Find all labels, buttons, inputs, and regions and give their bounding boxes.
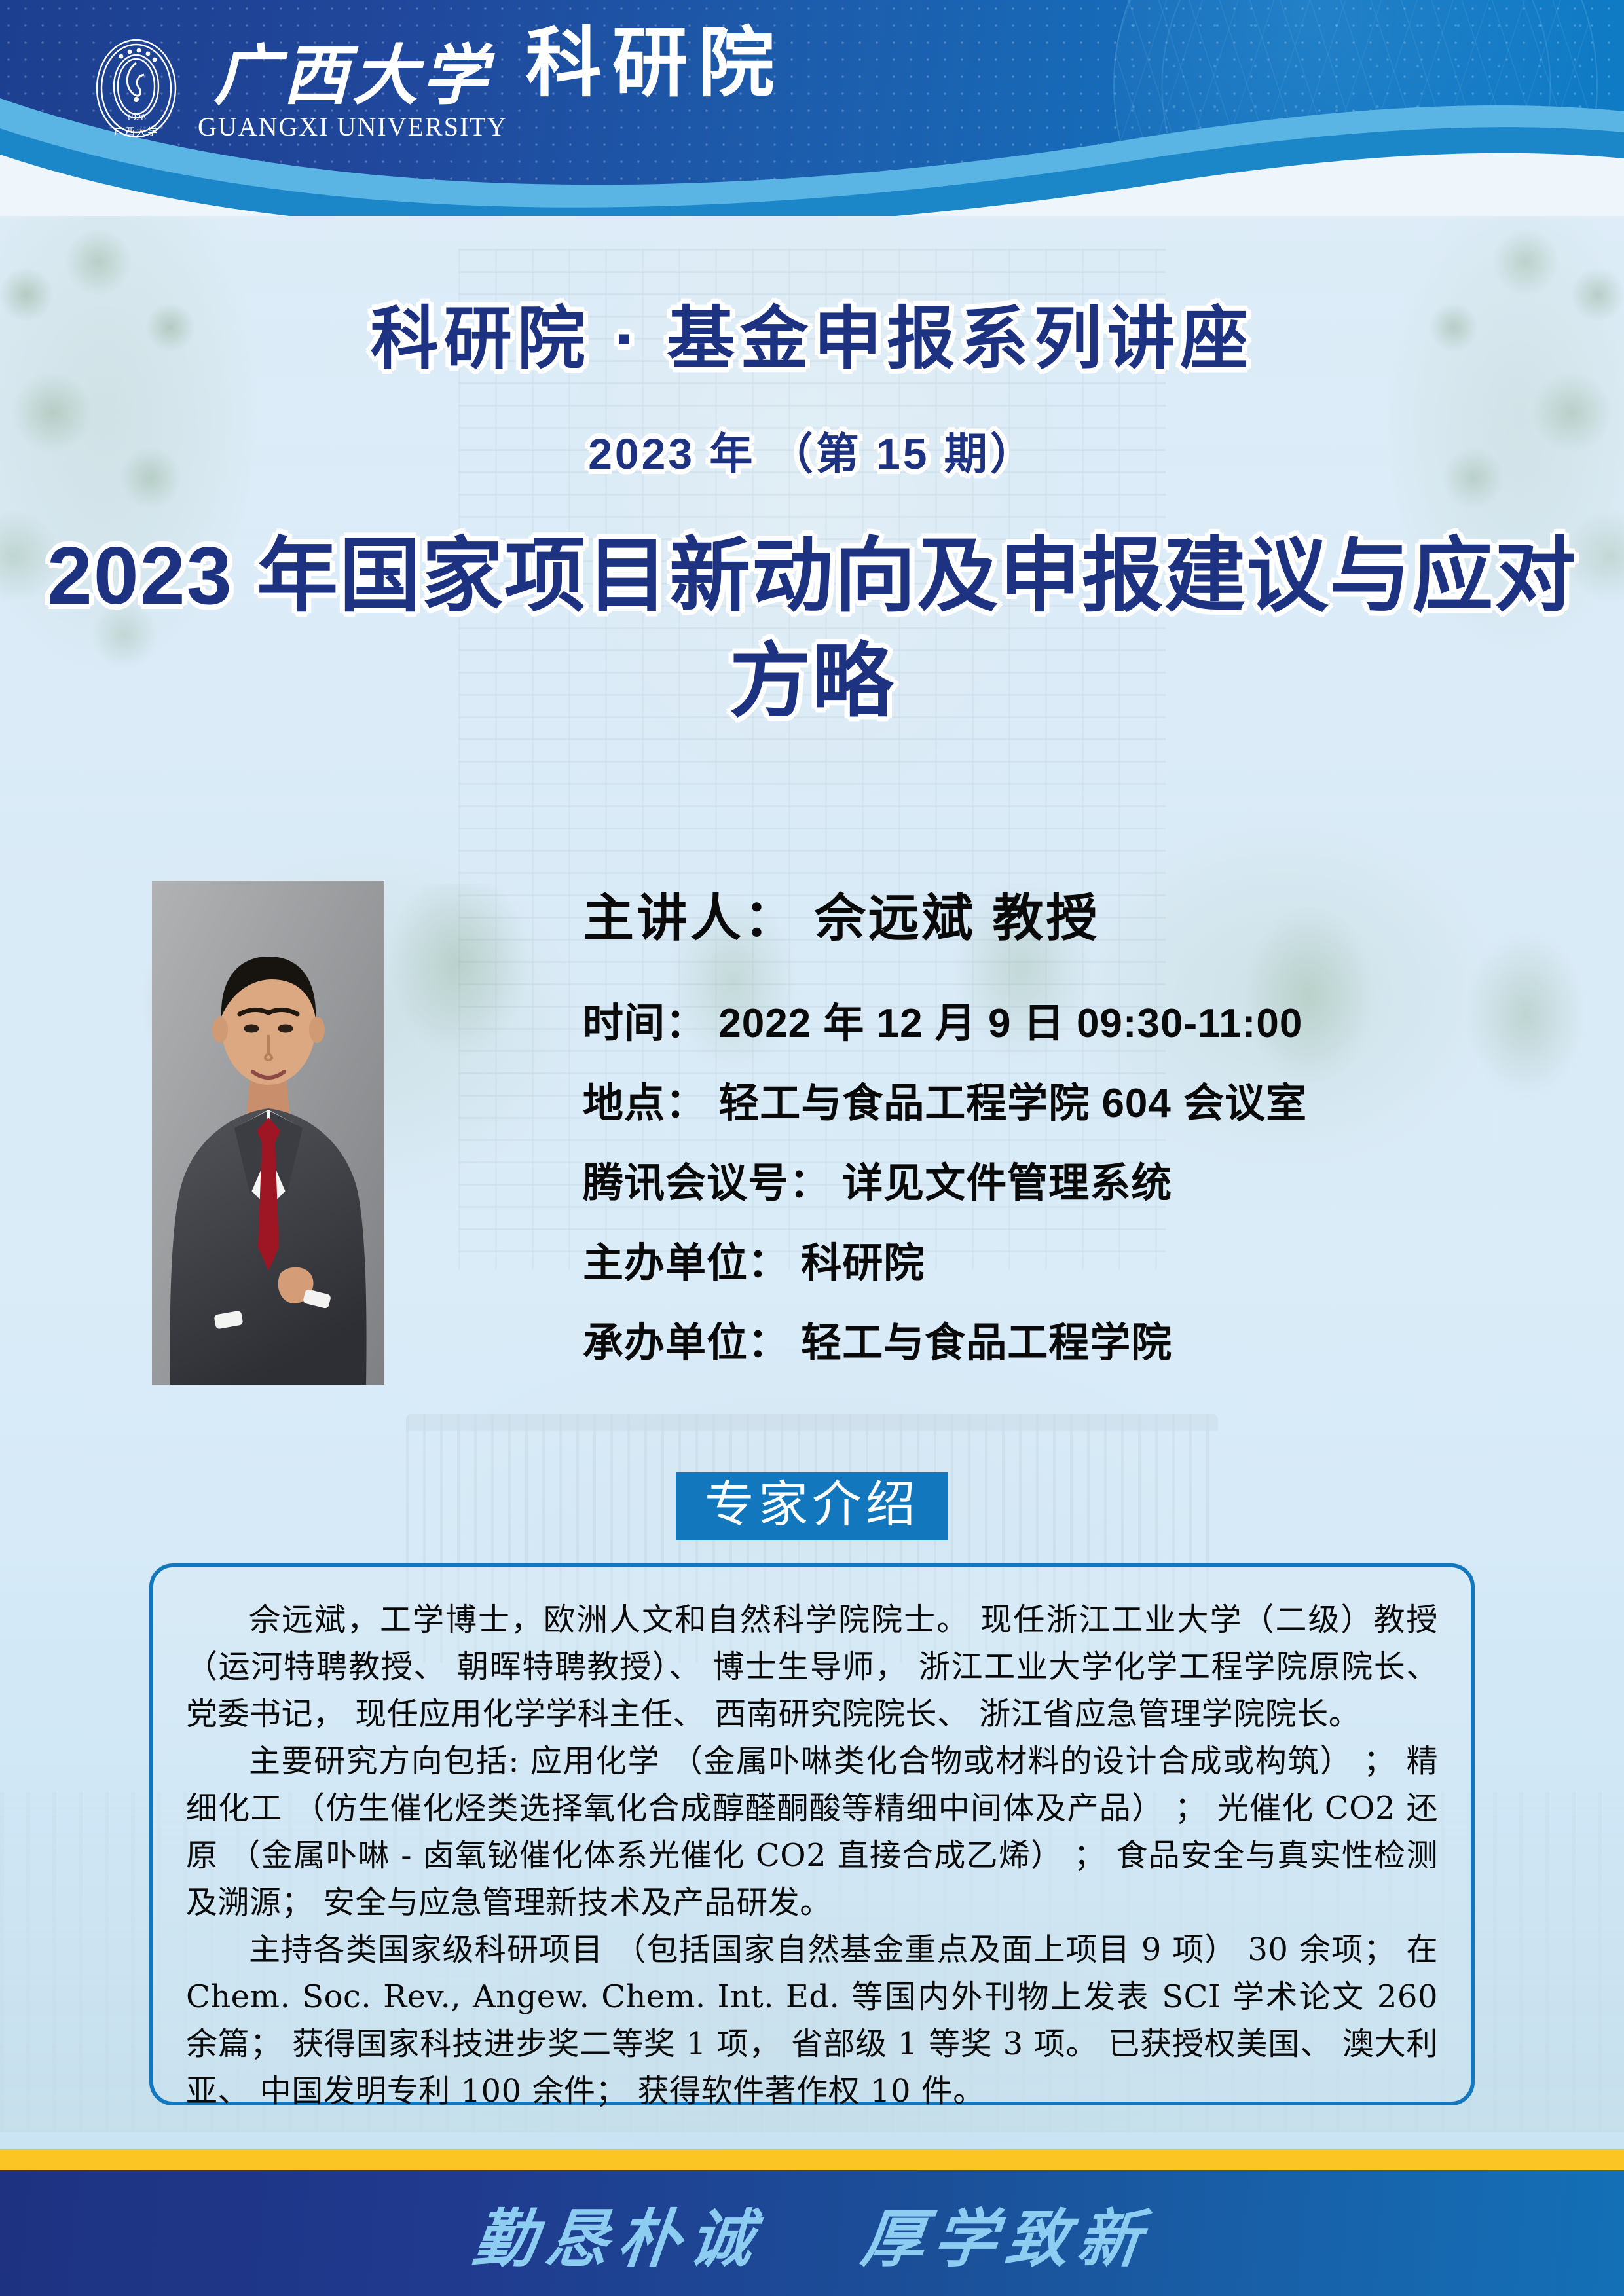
lecture-location: 地点： 轻工与食品工程学院 604 会议室 [583,1070,1552,1129]
footer-yellow-stripe [0,2149,1624,2170]
poster-root: 1928 广西大学 广西大学 GUANGXI UNIVERSITY 科研院 科研… [0,0,1624,2296]
expert-intro-box: 佘远斌，工学博士，欧洲人文和自然科学院院士。 现任浙江工业大学（二级）教授 （运… [149,1563,1475,2105]
avatar [152,881,384,1385]
poster-footer: 勤恳朴诚 厚学致新 [0,2170,1624,2296]
tencent-meeting-id: 腾讯会议号： 详见文件管理系统 [583,1150,1552,1209]
university-motto: 勤恳朴诚 厚学致新 [469,2188,1154,2279]
speaker-portrait-photo [152,881,384,1385]
series-issue-number: 2023 年 （第 15 期） [0,419,1624,482]
expert-intro-banner-label: 专家介绍 [705,1478,919,1531]
seal-year: 1928 [126,113,146,123]
motto-right: 厚学致新 [858,2202,1154,2276]
speaker-info-block: 主讲人： 佘远斌 教授 时间： 2022 年 12 月 9 日 09:30-11… [583,877,1552,1389]
host-unit: 承办单位： 轻工与食品工程学院 [583,1309,1552,1368]
university-name-en: GUANGXI UNIVERSITY [198,111,507,142]
expert-paragraph-3: 主持各类国家级科研项目 （包括国家自然基金重点及面上项目 9 项） 30 余项；… [186,1926,1438,2115]
expert-paragraph-1: 佘远斌，工学博士，欧洲人文和自然科学院院士。 现任浙江工业大学（二级）教授 （运… [186,1596,1438,1738]
expert-paragraph-2: 主要研究方向包括: 应用化学 （金属卟啉类化合物或材料的设计合成或构筑） ； 精… [186,1738,1438,1926]
lecture-main-title: 2023 年国家项目新动向及申报建议与应对方略 [0,524,1624,735]
motto-left: 勤恳朴诚 [470,2202,766,2276]
poster-header: 1928 广西大学 广西大学 GUANGXI UNIVERSITY 科研院 [0,0,1624,216]
expert-intro-text: 佘远斌，工学博士，欧洲人文和自然科学院院士。 现任浙江工业大学（二级）教授 （运… [186,1596,1438,2115]
lecture-time: 时间： 2022 年 12 月 9 日 09:30-11:00 [583,990,1552,1049]
expert-intro-banner: 专家介绍 [676,1472,948,1540]
university-name-cn: 广西大学 [213,42,491,109]
department-name-cn: 科研院 [526,25,785,101]
brand-lockup: 1928 广西大学 广西大学 GUANGXI UNIVERSITY 科研院 [92,34,785,142]
guangxi-university-seal-icon: 1928 广西大学 [92,37,181,140]
speaker-name-line: 主讲人： 佘远斌 教授 [583,877,1552,951]
organizer-unit: 主办单位： 科研院 [583,1230,1552,1288]
series-title: 科研院 · 基金申报系列讲座 [0,283,1624,382]
svg-text:广西大学: 广西大学 [114,126,158,137]
